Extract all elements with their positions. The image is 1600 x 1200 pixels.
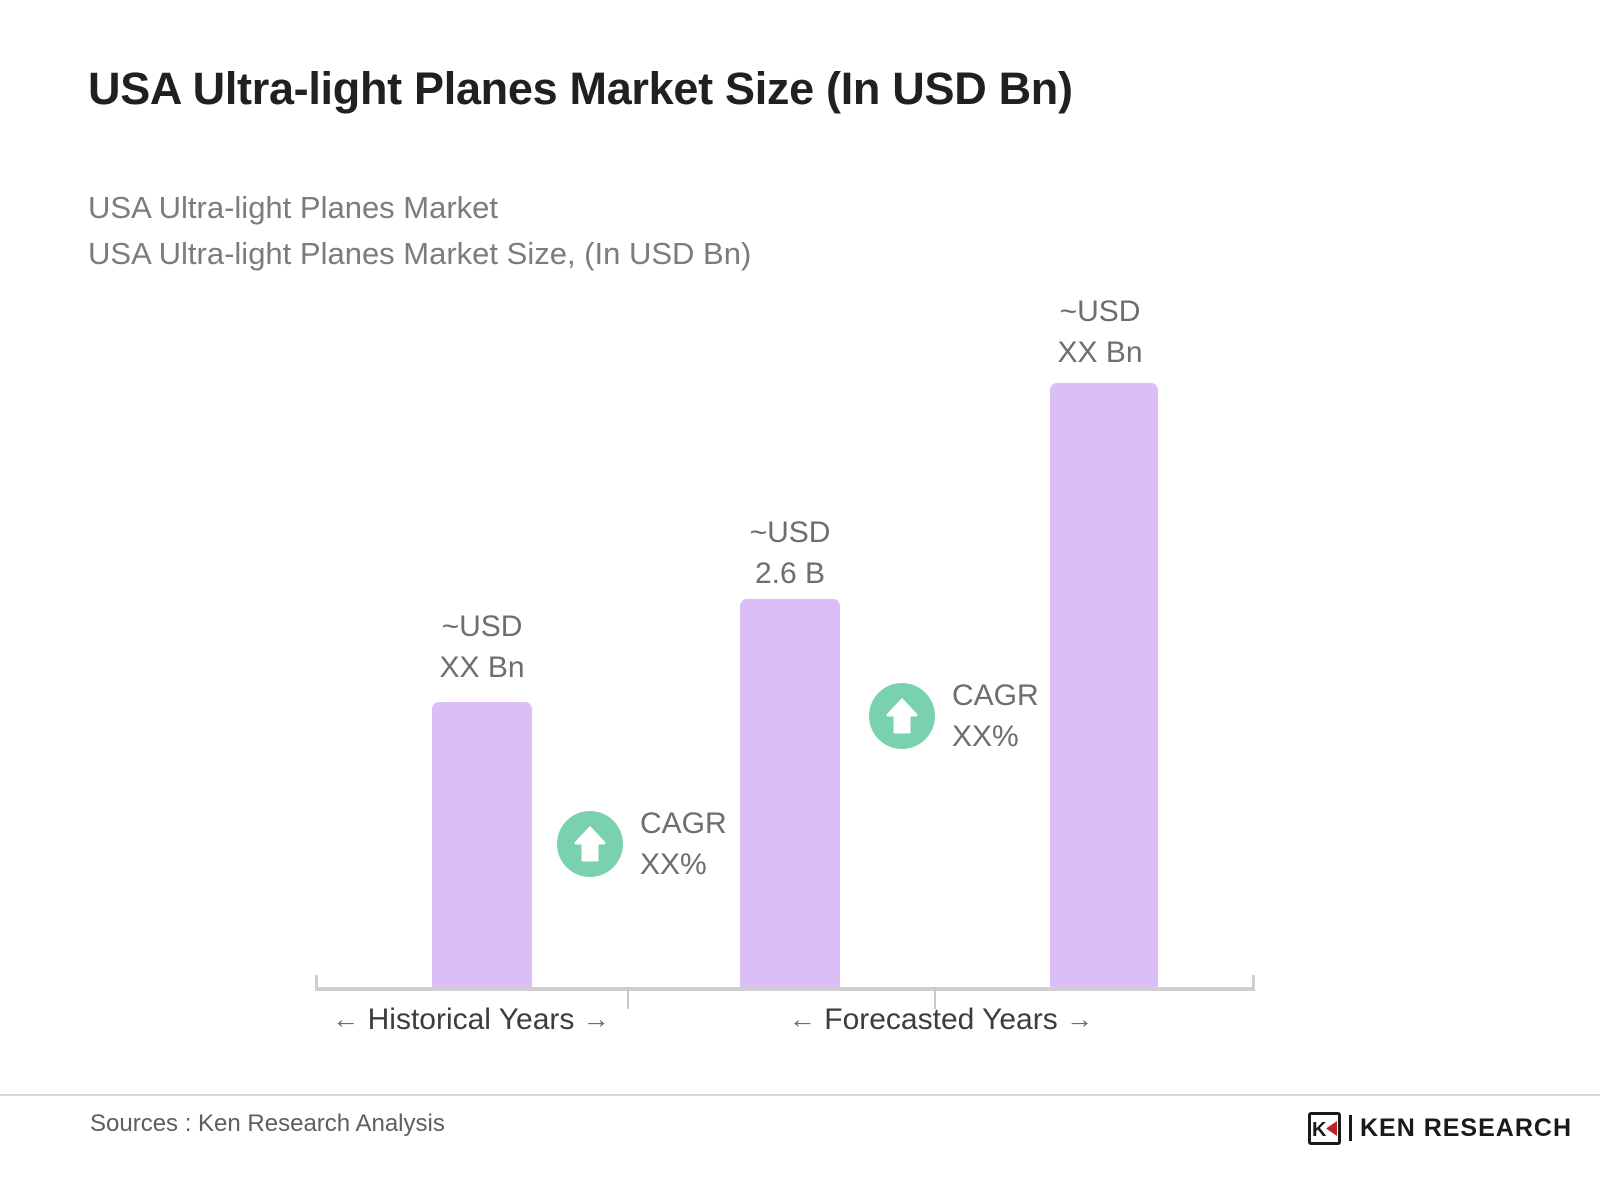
bar-2[interactable]: [740, 599, 840, 989]
x-axis-line: [315, 987, 1255, 991]
bar-value-label-1: ~USD XX Bn: [382, 606, 582, 688]
arrow-right-icon: →: [1066, 1004, 1093, 1034]
bar-value-label-2-line-2: 2.6 B: [690, 553, 890, 594]
cagr-badge-1-text: CAGR XX%: [640, 803, 727, 885]
x-axis-tick-end: [1252, 975, 1255, 991]
ken-research-logo: K KEN RESEARCH: [1308, 1110, 1572, 1146]
cagr-badge-1-line-1: CAGR: [640, 803, 727, 844]
source-note: Sources : Ken Research Analysis: [90, 1110, 445, 1138]
bar-value-label-3-line-1: ~USD: [1000, 291, 1200, 332]
footer-divider: [0, 1094, 1600, 1096]
bar-3[interactable]: [1050, 383, 1158, 989]
cagr-badge-1: CAGR XX%: [557, 803, 727, 885]
axis-group-historical-label: Historical Years: [368, 1003, 575, 1036]
arrow-up-icon: [573, 825, 607, 863]
x-axis-tick-start: [315, 975, 318, 991]
arrow-left-icon: ←: [789, 1004, 816, 1034]
bar-value-label-3-line-2: XX Bn: [1000, 332, 1200, 373]
cagr-badge-2-line-2: XX%: [952, 716, 1039, 757]
svg-text:K: K: [1312, 1119, 1327, 1141]
axis-group-forecasted: ← Forecasted Years →: [627, 1003, 1255, 1037]
arrow-left-icon: ←: [332, 1004, 359, 1034]
logo-k-glyph-icon: K: [1311, 1115, 1338, 1142]
bar-value-label-2: ~USD 2.6 B: [690, 512, 890, 594]
logo-k-mark-icon: K: [1308, 1112, 1341, 1145]
axis-group-historical: ← Historical Years →: [315, 1003, 627, 1037]
cagr-badge-2: CAGR XX%: [869, 675, 1039, 757]
cagr-badge-2-line-1: CAGR: [952, 675, 1039, 716]
bar-value-label-1-line-1: ~USD: [382, 606, 582, 647]
bar-value-label-2-line-1: ~USD: [690, 512, 890, 553]
chart-plot-area: ~USD XX Bn ~USD 2.6 B ~USD XX Bn C: [0, 0, 1600, 1200]
arrow-up-icon: [885, 697, 919, 735]
bar-value-label-1-line-2: XX Bn: [382, 647, 582, 688]
cagr-badge-1-line-2: XX%: [640, 844, 727, 885]
axis-group-forecasted-label: Forecasted Years: [824, 1003, 1057, 1036]
slide-root: USA Ultra-light Planes Market Size (In U…: [0, 0, 1600, 1200]
bar-value-label-3: ~USD XX Bn: [1000, 291, 1200, 373]
logo-separator: [1349, 1115, 1352, 1141]
logo-wordmark: KEN RESEARCH: [1360, 1114, 1572, 1143]
arrow-right-icon: →: [583, 1004, 610, 1034]
cagr-badge-1-circle: [557, 811, 623, 877]
cagr-badge-2-circle: [869, 683, 935, 749]
cagr-badge-2-text: CAGR XX%: [952, 675, 1039, 757]
bar-1[interactable]: [432, 702, 532, 989]
